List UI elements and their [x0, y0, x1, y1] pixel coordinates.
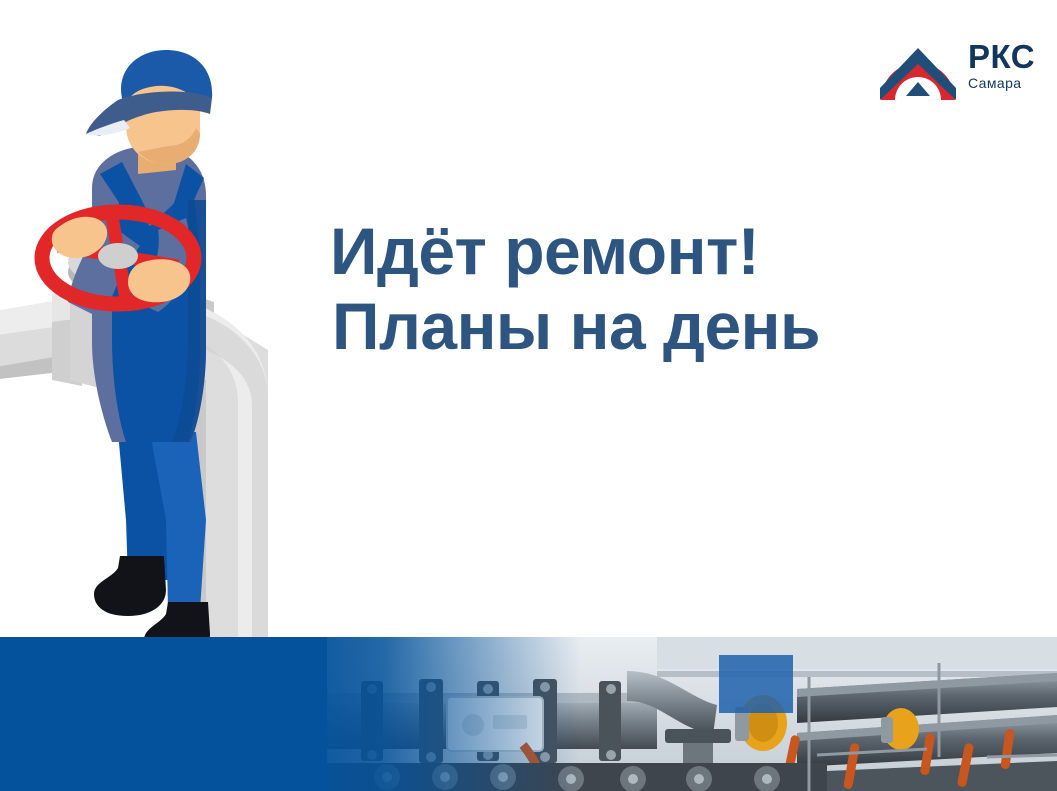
brand-logo-text: РКС Самара	[968, 40, 1035, 91]
brand-name: РКС	[968, 40, 1035, 73]
brand-city: Самара	[968, 76, 1035, 91]
worker-head	[86, 50, 212, 174]
worker-legs	[94, 432, 210, 650]
rks-mark-icon	[872, 26, 964, 102]
brand-logo[interactable]: РКС Самара	[872, 26, 1047, 104]
band-photo-fade	[280, 637, 580, 791]
worker-illustration	[0, 50, 300, 650]
headline-line-1: Идёт ремонт!	[330, 214, 970, 289]
slide-canvas: Идёт ремонт! Планы на день РКС Самара	[0, 0, 1057, 791]
bottom-band	[0, 637, 1057, 791]
headline-line-2: Планы на день	[332, 289, 970, 364]
worker-boot-left	[94, 556, 166, 616]
headline-block: Идёт ремонт! Планы на день	[330, 214, 970, 364]
